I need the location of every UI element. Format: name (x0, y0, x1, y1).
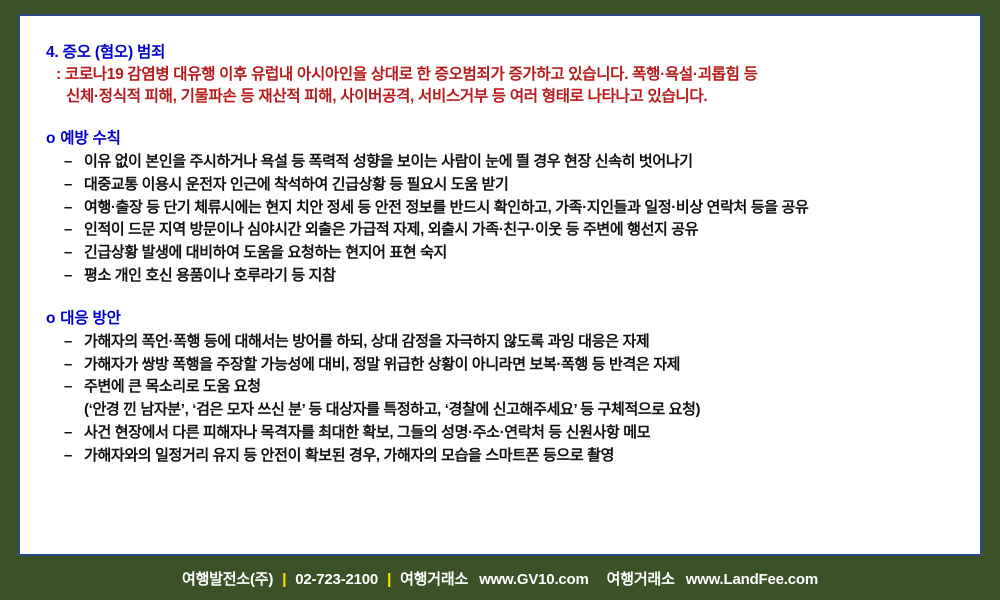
list-item-label: 주변에 큰 목소리로 도움 요청 (84, 378, 261, 395)
list-item-label: 인적이 드문 지역 방문이나 심야시간 외출은 가급적 자제, 외출시 가족·친… (84, 221, 698, 238)
footer-brand-1: 여행거래소 (400, 568, 468, 589)
list-item-label: 이유 없이 본인을 주시하거나 욕설 등 폭력적 성향을 보이는 사람이 눈에 … (84, 153, 693, 170)
list-item: –가해자와의 일정거리 유지 등 안전이 확보된 경우, 가해자의 모습을 스마… (64, 445, 966, 468)
footer-company: 여행발전소(주) (182, 568, 273, 589)
group-response-heading: o대응 방안 (46, 306, 966, 328)
list-item-label: 사건 현장에서 다른 피해자나 목격자를 최대한 확보, 그들의 성명·주소·연… (84, 424, 650, 441)
group-prevention: o예방 수칙 –이유 없이 본인을 주시하거나 욕설 등 폭력적 성향을 보이는… (34, 126, 966, 288)
list-item: –긴급상황 발생에 대비하여 도움을 요청하는 현지어 표현 숙지 (64, 242, 966, 265)
dash-bullet-icon: – (64, 174, 72, 197)
list-item-label: (‘안경 낀 남자분’, ‘검은 모자 쓰신 분’ 등 대상자를 특정하고, ‘… (84, 401, 700, 418)
list-item: –가해자의 폭언·폭행 등에 대해서는 방어를 하되, 상대 감정을 자극하지 … (64, 331, 966, 354)
dash-bullet-icon: – (64, 197, 72, 220)
group-prevention-list: –이유 없이 본인을 주시하거나 욕설 등 폭력적 성향을 보이는 사람이 눈에… (34, 151, 966, 288)
list-item: –이유 없이 본인을 주시하거나 욕설 등 폭력적 성향을 보이는 사람이 눈에… (64, 151, 966, 174)
dash-bullet-icon: – (64, 445, 72, 468)
list-item: –여행·출장 등 단기 체류시에는 현지 치안 정세 등 안전 정보를 반드시 … (64, 197, 966, 220)
footer-site-1[interactable]: www.GV10.com (479, 571, 589, 588)
dash-bullet-icon: – (64, 331, 72, 354)
list-item: –(‘안경 낀 남자분’, ‘검은 모자 쓰신 분’ 등 대상자를 특정하고, … (64, 399, 966, 422)
group-response: o대응 방안 –가해자의 폭언·폭행 등에 대해서는 방어를 하되, 상대 감정… (34, 306, 966, 468)
footer-phone: 02-723-2100 (295, 571, 378, 588)
group-prevention-heading-label: 예방 수칙 (60, 130, 120, 147)
dash-bullet-icon: – (64, 151, 72, 174)
circle-bullet-icon: o (46, 310, 55, 327)
footer-separator-1: | (282, 571, 286, 588)
list-item: –평소 개인 호신 용품이나 호루라기 등 지참 (64, 265, 966, 288)
group-response-list: –가해자의 폭언·폭행 등에 대해서는 방어를 하되, 상대 감정을 자극하지 … (34, 331, 966, 468)
dash-bullet-icon: – (64, 242, 72, 265)
footer-content: 여행발전소(주) | 02-723-2100 | 여행거래소 www.GV10.… (180, 568, 820, 589)
intro-line-2: 신체·정식적 피해, 기물파손 등 재산적 피해, 사이버공격, 서비스거부 등… (66, 86, 966, 108)
content-panel: 4. 증오 (혐오) 범죄 : 코로나19 감염병 대유행 이후 유럽내 아시아… (18, 14, 982, 556)
dash-bullet-icon: – (64, 422, 72, 445)
list-item: –대중교통 이용시 운전자 인근에 착석하여 긴급상황 등 필요시 도움 받기 (64, 174, 966, 197)
section-intro: : 코로나19 감염병 대유행 이후 유럽내 아시아인을 상대로 한 증오범죄가… (34, 64, 966, 108)
circle-bullet-icon: o (46, 130, 55, 147)
list-item: –인적이 드문 지역 방문이나 심야시간 외출은 가급적 자제, 외출시 가족·… (64, 219, 966, 242)
list-item-label: 대중교통 이용시 운전자 인근에 착석하여 긴급상황 등 필요시 도움 받기 (84, 176, 508, 193)
footer-site-2[interactable]: www.LandFee.com (686, 571, 818, 588)
list-item-label: 긴급상황 발생에 대비하여 도움을 요청하는 현지어 표현 숙지 (84, 244, 447, 261)
section-title: 4. 증오 (혐오) 범죄 (46, 40, 966, 62)
group-response-heading-label: 대응 방안 (60, 310, 120, 327)
group-prevention-heading: o예방 수칙 (46, 126, 966, 148)
dash-bullet-icon: – (64, 219, 72, 242)
footer-separator-2: | (387, 571, 391, 588)
list-item-label: 가해자와의 일정거리 유지 등 안전이 확보된 경우, 가해자의 모습을 스마트… (84, 447, 614, 464)
slide-root: 4. 증오 (혐오) 범죄 : 코로나19 감염병 대유행 이후 유럽내 아시아… (0, 0, 1000, 600)
dash-bullet-icon: – (64, 354, 72, 377)
footer-brand-2: 여행거래소 (607, 568, 675, 589)
footer-bar: 여행발전소(주) | 02-723-2100 | 여행거래소 www.GV10.… (0, 556, 1000, 600)
list-item: –사건 현장에서 다른 피해자나 목격자를 최대한 확보, 그들의 성명·주소·… (64, 422, 966, 445)
list-item-label: 평소 개인 호신 용품이나 호루라기 등 지참 (84, 267, 336, 284)
list-item-label: 가해자의 폭언·폭행 등에 대해서는 방어를 하되, 상대 감정을 자극하지 않… (84, 333, 649, 350)
list-item-label: 여행·출장 등 단기 체류시에는 현지 치안 정세 등 안전 정보를 반드시 확… (84, 199, 808, 216)
dash-bullet-icon: – (64, 265, 72, 288)
list-item-label: 가해자가 쌍방 폭행을 주장할 가능성에 대비, 정말 위급한 상황이 아니라면… (84, 356, 680, 373)
dash-bullet-icon: – (64, 376, 72, 399)
intro-line-1: : 코로나19 감염병 대유행 이후 유럽내 아시아인을 상대로 한 증오범죄가… (56, 64, 966, 86)
list-item: –가해자가 쌍방 폭행을 주장할 가능성에 대비, 정말 위급한 상황이 아니라… (64, 354, 966, 377)
list-item: –주변에 큰 목소리로 도움 요청 (64, 376, 966, 399)
